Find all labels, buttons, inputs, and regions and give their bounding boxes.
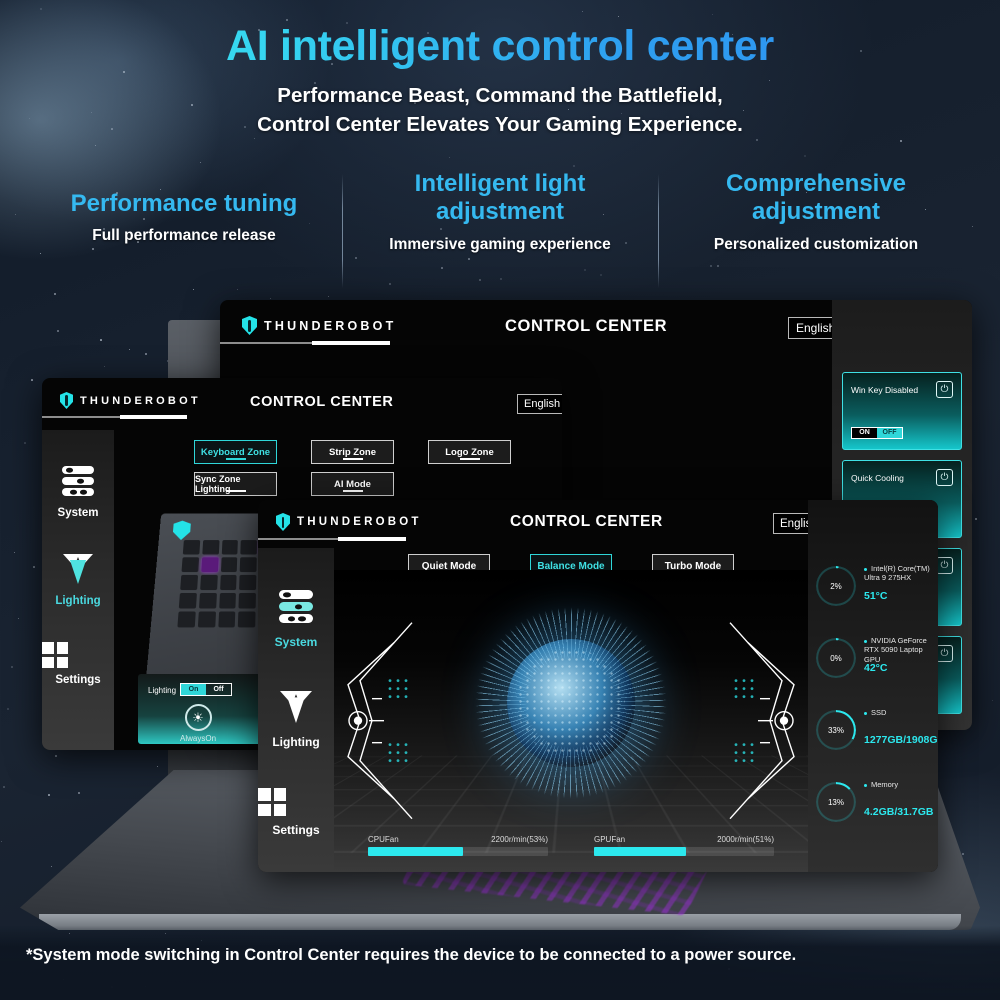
brand-underline-cap [120, 415, 187, 419]
zone-button-strip[interactable]: Strip Zone [311, 440, 394, 464]
footer-note: *System mode switching in Control Center… [26, 946, 796, 965]
fan-name: CPUFan [368, 835, 399, 844]
hud-bracket-left [338, 618, 422, 823]
feature-title-line-2: adjustment [664, 198, 968, 226]
brand-underline-cap [312, 341, 390, 345]
settings-grid-icon [42, 642, 68, 668]
zone-button-label: Strip Zone [329, 447, 376, 458]
brand-logo: THUNDEROBOT [242, 316, 396, 335]
feature-comprehensive-adjustment: Comprehensive adjustment Personalized cu… [658, 170, 974, 282]
win-key-toggle[interactable]: ON OFF [851, 427, 903, 439]
sidebar-item-system[interactable]: System [258, 590, 334, 649]
page-title: AI intelligent control center [0, 22, 1000, 71]
system-sliders-icon [62, 466, 94, 496]
control-center-window-system[interactable]: THUNDEROBOT CONTROL CENTER English – ✕ S… [258, 500, 938, 872]
sidebar-item-label: System [258, 635, 334, 649]
language-value: English [524, 398, 560, 410]
hero-subtitle: Performance Beast, Command the Battlefie… [0, 81, 1000, 139]
fan-cpu[interactable]: CPUFan 2200r/min(53%) [368, 835, 548, 856]
bullet-dot-icon [864, 640, 867, 643]
fan-slider-track[interactable] [368, 847, 548, 856]
brand-name: THUNDEROBOT [80, 395, 201, 407]
feature-desc: Full performance release [32, 227, 336, 245]
feature-title-line-1: Comprehensive [664, 170, 968, 198]
card-win-key-disabled[interactable]: Win Key Disabled ⏻ ON OFF [842, 372, 962, 450]
feature-title: Performance tuning [32, 190, 336, 218]
hud-bracket-right [720, 618, 804, 823]
thunderobot-helmet-icon [276, 513, 290, 531]
fan-name: GPUFan [594, 835, 625, 844]
sidebar-item-lighting[interactable]: Lighting [258, 691, 334, 749]
lighting-mode-alwayson[interactable]: ☀ AlwaysOn [180, 704, 216, 743]
window-title: CONTROL CENTER [510, 513, 663, 531]
fan-gpu[interactable]: GPUFan 2000r/min(51%) [594, 835, 774, 856]
window-title: CONTROL CENTER [505, 317, 667, 336]
stat-value: 51°C [864, 590, 887, 602]
feature-title: Intelligent light adjustment [348, 170, 652, 227]
sidebar-item-system[interactable]: System [42, 466, 114, 519]
feature-title: Comprehensive adjustment [664, 170, 968, 227]
zone-button-label: Logo Zone [445, 447, 494, 458]
bullet-dot-icon [864, 568, 867, 571]
feature-performance-tuning: Performance tuning Full performance rele… [26, 170, 342, 282]
brand-logo: THUNDEROBOT [60, 392, 201, 409]
brand-underline [42, 416, 187, 418]
bullet-dot-icon [864, 784, 867, 787]
window-title: CONTROL CENTER [250, 394, 393, 410]
zone-button-label: AI Mode [334, 479, 371, 490]
stat-value: 1277GB/1908GB [864, 734, 938, 746]
feature-row: Performance tuning Full performance rele… [26, 170, 974, 282]
sidebar-item-label: Settings [258, 823, 334, 837]
fan-slider-fill [368, 847, 463, 856]
bullet-dot-icon [864, 712, 867, 715]
stat-name: Intel(R) Core(TM) Ultra 9 275HX [864, 564, 936, 583]
sidebar-item-label: System [42, 507, 114, 519]
sidebar: System Lighting Settings [42, 430, 114, 750]
brand-underline [258, 538, 406, 540]
system-stats-panel: Intel(R) Core(TM) Ultra 9 275HX 51°C 2% … [808, 500, 938, 872]
sidebar-item-label: Lighting [258, 735, 334, 749]
power-icon[interactable]: ⏻ [936, 557, 953, 574]
language-value: English [796, 321, 835, 335]
system-visualization-stage: CPUFan 2200r/min(53%) GPUFan 2000r/min(5… [334, 570, 808, 872]
thunderobot-helmet-icon [242, 316, 257, 335]
lighting-triangle-icon [280, 691, 312, 723]
feature-title-line-2: adjustment [348, 198, 652, 226]
feature-desc: Immersive gaming experience [348, 236, 652, 254]
zone-button-ai-mode[interactable]: AI Mode [311, 472, 394, 496]
power-icon[interactable]: ⏻ [936, 381, 953, 398]
fan-reading: 2000r/min(51%) [717, 835, 774, 844]
usage-percent: 33% [816, 710, 856, 750]
card-label: Quick Cooling [851, 473, 904, 483]
zone-button-label: Keyboard Zone [201, 447, 270, 458]
lighting-label: Lighting [148, 686, 176, 695]
card-label: Win Key Disabled [851, 385, 918, 395]
brand-underline [220, 342, 390, 344]
zone-button-keyboard[interactable]: Keyboard Zone [194, 440, 277, 464]
language-select[interactable]: English [517, 394, 562, 414]
usage-percent: 0% [816, 638, 856, 678]
brand-name: THUNDEROBOT [264, 319, 396, 333]
toggle-off-label[interactable]: OFF [877, 428, 902, 438]
brightness-sun-icon: ☀ [185, 704, 212, 731]
thunderobot-helmet-icon [172, 521, 191, 540]
zone-button-label: Sync Zone Lighting [195, 474, 276, 494]
stat-name: Memory [864, 780, 936, 789]
feature-desc: Personalized customization [664, 236, 968, 254]
fan-reading: 2200r/min(53%) [491, 835, 548, 844]
sidebar-item-settings[interactable]: Settings [42, 642, 114, 686]
footer: *System mode switching in Control Center… [0, 926, 1000, 1000]
toggle-on-label[interactable]: ON [852, 428, 877, 438]
fan-slider-fill [594, 847, 686, 856]
power-icon[interactable]: ⏻ [936, 645, 953, 662]
sidebar-item-lighting[interactable]: Lighting [42, 554, 114, 607]
fan-controls: CPUFan 2200r/min(53%) GPUFan 2000r/min(5… [368, 835, 774, 856]
sidebar-item-label: Settings [42, 674, 114, 686]
thunderobot-helmet-icon [60, 392, 73, 409]
power-icon[interactable]: ⏻ [936, 469, 953, 486]
lighting-toggle[interactable]: On Off [180, 683, 232, 696]
settings-grid-icon [258, 788, 286, 816]
system-sliders-icon [279, 590, 313, 623]
stat-value: 4.2GB/31.7GB [864, 806, 933, 818]
brand-name: THUNDEROBOT [297, 516, 422, 528]
brand-underline-cap [338, 537, 406, 541]
stat-name: SSD [864, 708, 936, 717]
toggle-off-label[interactable]: Off [206, 684, 231, 695]
toggle-on-label[interactable]: On [181, 684, 206, 695]
fan-slider-track[interactable] [594, 847, 774, 856]
lighting-triangle-icon [63, 554, 93, 584]
sidebar: System Lighting Settings [258, 548, 334, 872]
stat-cpu: Intel(R) Core(TM) Ultra 9 275HX 51°C 2% [808, 560, 938, 632]
usage-percent: 13% [816, 782, 856, 822]
usage-percent: 2% [816, 566, 856, 606]
zone-button-sync-zone-lighting[interactable]: Sync Zone Lighting [194, 472, 277, 496]
energy-core-sphere [507, 639, 635, 767]
hero-subtitle-line-1: Performance Beast, Command the Battlefie… [0, 81, 1000, 110]
sidebar-item-settings[interactable]: Settings [258, 788, 334, 837]
zone-button-logo[interactable]: Logo Zone [428, 440, 511, 464]
feature-title-line-1: Intelligent light [348, 170, 652, 198]
feature-intelligent-light-adjustment: Intelligent light adjustment Immersive g… [342, 170, 658, 282]
lighting-mode-label: AlwaysOn [180, 734, 216, 743]
stat-gpu: NVIDIA GeForce RTX 5090 Laptop GPU 42°C … [808, 632, 938, 704]
hero-subtitle-line-2: Control Center Elevates Your Gaming Expe… [0, 110, 1000, 139]
brand-logo: THUNDEROBOT [276, 513, 422, 531]
sidebar-item-label: Lighting [42, 595, 114, 607]
stat-name: NVIDIA GeForce RTX 5090 Laptop GPU [864, 636, 936, 664]
stat-memory: Memory 4.2GB/31.7GB 13% [808, 776, 938, 848]
hero-section: AI intelligent control center Performanc… [0, 22, 1000, 139]
stat-ssd: SSD 1277GB/1908GB 33% [808, 704, 938, 776]
stat-value: 42°C [864, 662, 887, 674]
